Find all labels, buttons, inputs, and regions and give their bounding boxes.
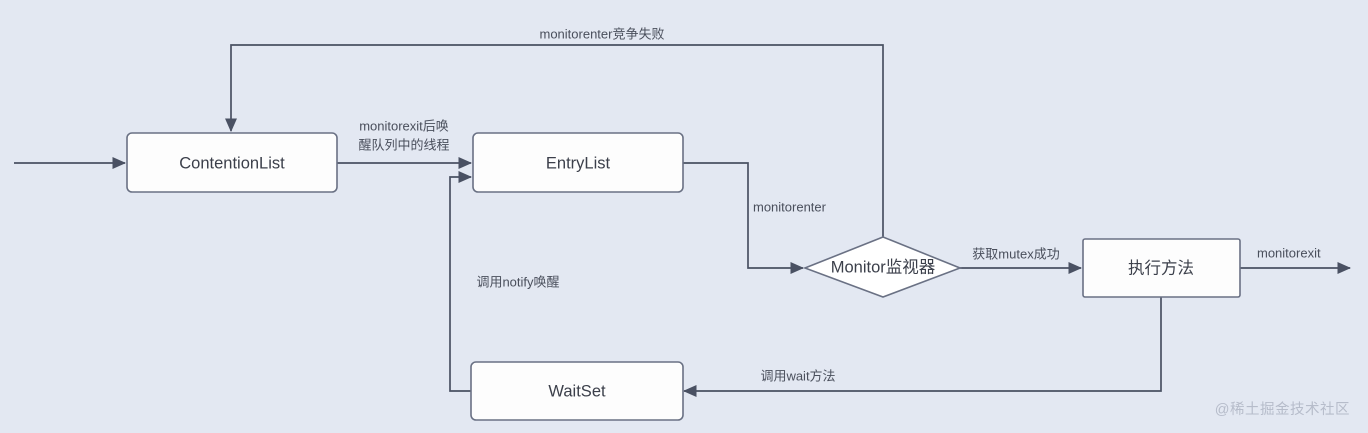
execute-method-label: 执行方法 (1128, 258, 1194, 277)
label-monitorexit: monitorexit (1257, 245, 1321, 260)
monitor-label: Monitor监视器 (831, 257, 936, 276)
watermark: @稀土掘金技术社区 (1215, 398, 1350, 419)
edge-execute-to-waitset (684, 297, 1161, 391)
edge-waitset-to-entrylist (450, 177, 471, 391)
wait-set-label: WaitSet (548, 382, 606, 400)
label-monitorexit-wakeup-line2: 醒队列中的线程 (358, 137, 449, 152)
node-monitor[interactable]: Monitor监视器 (805, 237, 960, 297)
node-wait-set[interactable]: WaitSet (471, 362, 683, 420)
edge-entrylist-to-monitor (683, 163, 803, 268)
contention-list-label: ContentionList (179, 154, 285, 172)
label-monitorenter: monitorenter (753, 199, 827, 214)
entry-list-label: EntryList (546, 154, 611, 172)
label-acquire-mutex-success: 获取mutex成功 (972, 246, 1059, 261)
node-execute-method[interactable]: 执行方法 (1083, 239, 1240, 297)
label-notify-wakeup: 调用notify唤醒 (476, 274, 559, 289)
label-call-wait: 调用wait方法 (760, 368, 835, 383)
node-contention-list[interactable]: ContentionList (127, 133, 337, 192)
label-monitorexit-wakeup-line1: monitorexit后唤 (359, 118, 449, 133)
node-entry-list[interactable]: EntryList (473, 133, 683, 192)
label-monitorenter-fail: monitorenter竞争失败 (540, 26, 665, 41)
flowchart-svg: ContentionList EntryList Monitor监视器 执行方法… (0, 0, 1368, 433)
diagram-canvas: ContentionList EntryList Monitor监视器 执行方法… (0, 0, 1368, 433)
